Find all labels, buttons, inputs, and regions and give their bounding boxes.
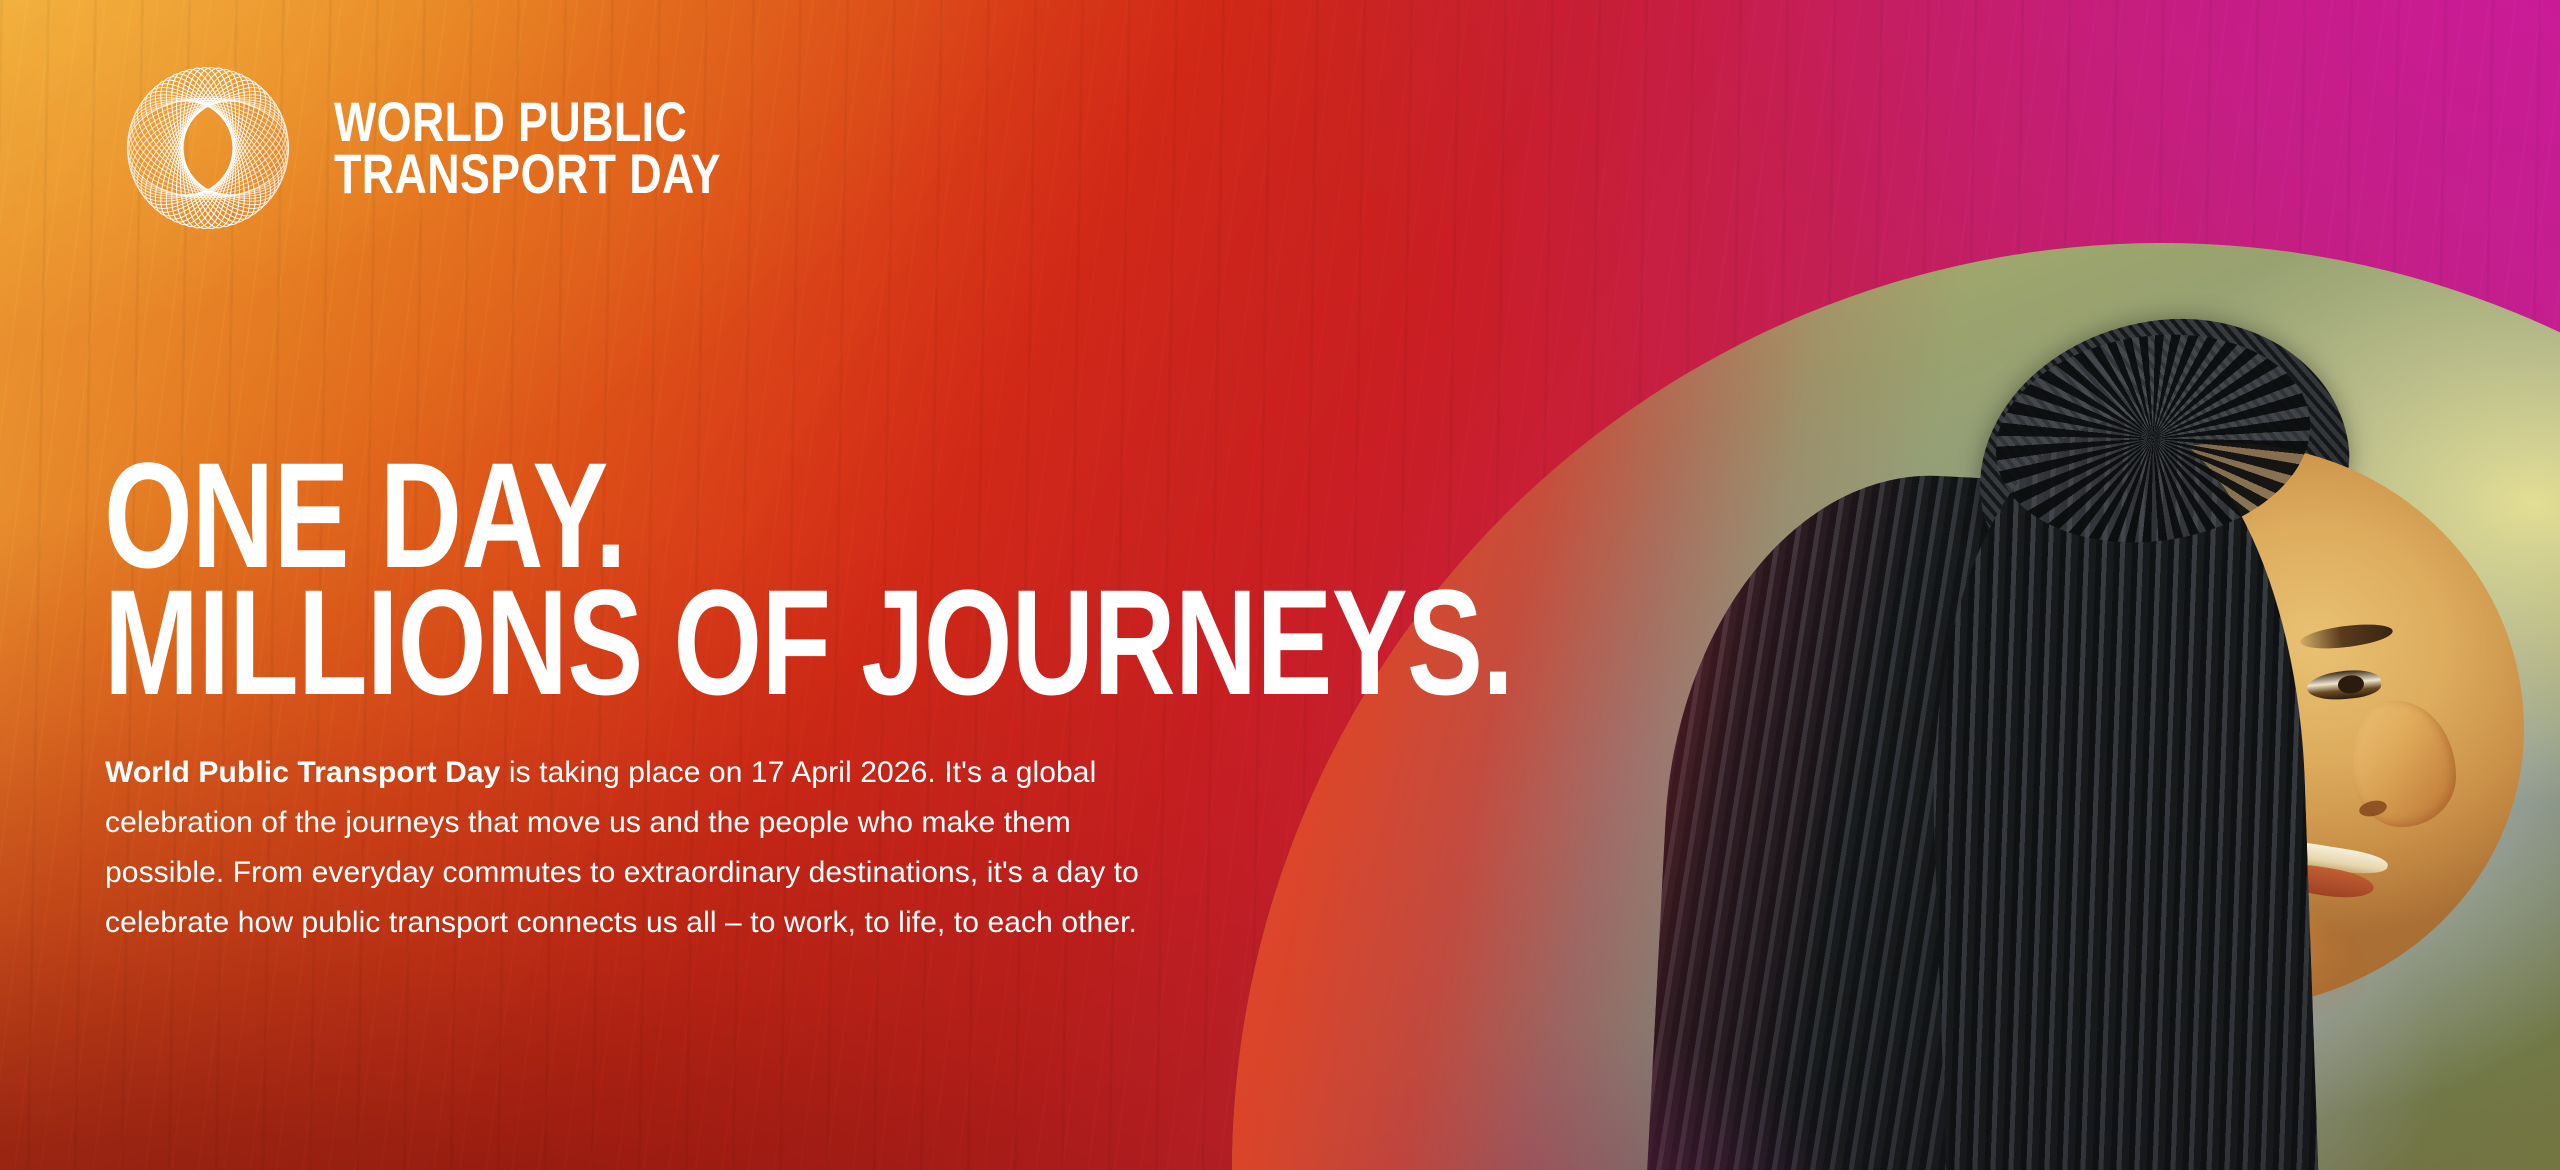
- spirograph-loop-mark-icon: [112, 52, 304, 244]
- brand-wordmark: WORLD PUBLIC TRANSPORT DAY: [334, 96, 721, 199]
- wordmark-line-2: TRANSPORT DAY: [334, 142, 721, 205]
- intro-lead: World Public Transport Day: [105, 756, 500, 789]
- campaign-banner: WORLD PUBLIC TRANSPORT DAY ONE DAY. MILL…: [0, 0, 2560, 1170]
- brand-lockup[interactable]: WORLD PUBLIC TRANSPORT DAY: [112, 52, 818, 244]
- intro-paragraph: World Public Transport Day is taking pla…: [105, 748, 1185, 948]
- page-title: ONE DAY. MILLIONS OF JOURNEYS.: [104, 452, 1513, 706]
- headline-line-2: MILLIONS OF JOURNEYS.: [104, 579, 1513, 706]
